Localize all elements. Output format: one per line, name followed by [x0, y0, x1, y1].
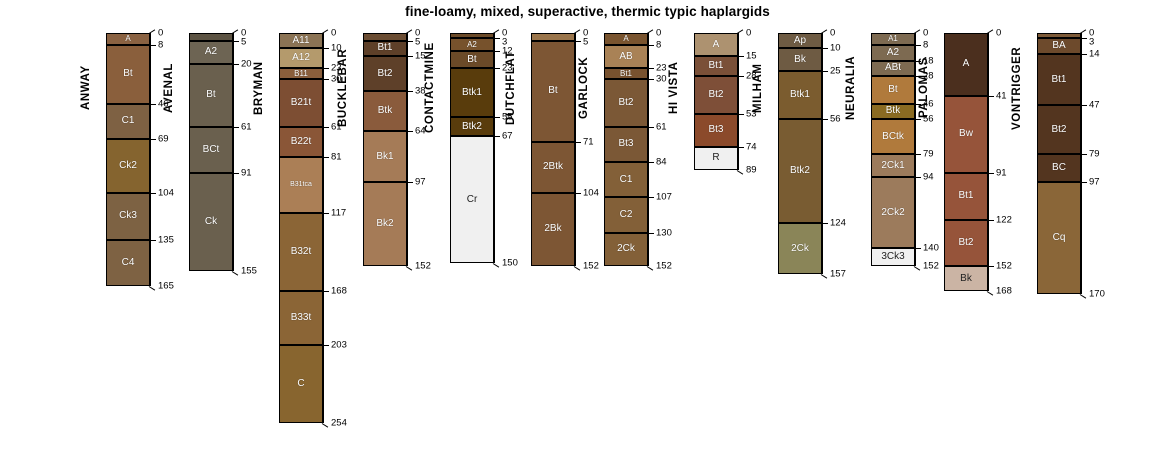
horizon-a[interactable]: A: [106, 33, 150, 45]
depth-tick-label: 107: [656, 192, 672, 203]
depth-tick: [575, 193, 581, 194]
depth-tick-label: 25: [830, 66, 841, 77]
horizon-label: A: [125, 35, 130, 43]
horizon-label: A11: [292, 36, 309, 46]
horizon-bt2[interactable]: Bt2: [944, 220, 988, 266]
horizon-label: Bt2: [708, 90, 723, 100]
depth-tick: [987, 29, 993, 34]
horizon-column: ABt1Bt2Bt3R: [694, 33, 738, 170]
depth-tick: [821, 274, 827, 279]
depth-tick: [323, 68, 329, 69]
horizon-bt1[interactable]: Bt1: [363, 41, 407, 56]
depth-tick: [232, 271, 238, 276]
depth-tick-label: 150: [502, 258, 518, 269]
depth-tick: [407, 182, 413, 183]
horizon-bk[interactable]: Bk: [944, 266, 988, 291]
horizon-bt2[interactable]: Bt2: [604, 79, 648, 127]
depth-tick: [648, 197, 654, 198]
depth-tick-label: 23: [656, 63, 667, 74]
profile-name-label: BUCKLEBAR: [337, 33, 349, 143]
horizon-ab[interactable]: AB: [604, 45, 648, 68]
horizon-column: AABBt1Bt2Bt3C1C22Ck: [604, 33, 648, 266]
horizon-bw[interactable]: Bw: [944, 96, 988, 173]
depth-tick: [406, 29, 412, 34]
horizon-label: A12: [292, 53, 310, 63]
depth-axis: [988, 33, 989, 291]
horizon-label: B31tca: [290, 181, 312, 188]
horizon-ba[interactable]: BA: [1037, 38, 1081, 55]
horizon-label: Bt1: [377, 43, 392, 53]
horizon-a1[interactable]: [189, 33, 233, 41]
depth-tick: [322, 29, 328, 34]
depth-tick: [1081, 54, 1087, 55]
depth-tick-label: 0: [656, 28, 661, 39]
depth-tick: [233, 41, 239, 42]
depth-tick: [1080, 29, 1086, 34]
horizon-bt2[interactable]: Bt2: [363, 56, 407, 91]
horizon-label: Bk1: [376, 152, 393, 162]
depth-tick: [149, 29, 155, 34]
depth-tick-label: 79: [1089, 149, 1100, 160]
horizon-column: Bt1Bt2BtkBk1Bk2: [363, 33, 407, 266]
depth-tick-label: 152: [415, 261, 431, 272]
depth-tick-label: 0: [746, 28, 751, 39]
horizon-3ck3[interactable]: 3Ck3: [871, 248, 915, 266]
horizon-bt2[interactable]: Bt2: [694, 76, 738, 114]
horizon-label: B11: [294, 70, 308, 78]
depth-tick: [150, 139, 156, 140]
depth-tick: [407, 131, 413, 132]
horizon-b31tca[interactable]: B31tca: [279, 157, 323, 212]
depth-tick-label: 168: [331, 285, 347, 296]
horizon-2bk[interactable]: 2Bk: [531, 193, 575, 267]
horizon-label: Btk1: [462, 88, 482, 98]
horizon-bc[interactable]: BC: [1037, 154, 1081, 182]
depth-tick: [988, 266, 994, 267]
profile-name-label: AVENAL: [163, 33, 175, 143]
horizon-a12[interactable]: A12: [279, 48, 323, 68]
depth-tick-label: 152: [656, 261, 672, 272]
depth-tick: [494, 51, 500, 52]
depth-tick: [407, 41, 413, 42]
depth-tick: [988, 173, 994, 174]
depth-tick-label: 203: [331, 339, 347, 350]
horizon-label: Btk: [378, 106, 392, 116]
depth-tick-label: 5: [415, 37, 420, 48]
horizon-2ck[interactable]: 2Ck: [604, 233, 648, 267]
depth-tick: [407, 91, 413, 92]
horizon-label: ABt: [885, 63, 901, 73]
horizon-bt1[interactable]: Bt1: [944, 173, 988, 221]
horizon-bt3[interactable]: Bt3: [694, 114, 738, 146]
depth-tick-label: 0: [830, 28, 835, 39]
depth-tick: [737, 29, 743, 34]
horizon-b21t[interactable]: B21t: [279, 79, 323, 127]
horizon-label: 2Bk: [544, 224, 561, 234]
horizon-column: ABtC1Ck2Ck3C4: [106, 33, 150, 286]
horizon-label: Cr: [467, 195, 478, 205]
horizon-label: Btk: [886, 106, 900, 116]
depth-tick-label: 135: [158, 235, 174, 246]
horizon-label: C1: [122, 116, 135, 126]
horizon-a[interactable]: A: [944, 33, 988, 96]
horizon-r[interactable]: R: [694, 147, 738, 170]
depth-tick: [738, 114, 744, 115]
horizon-column: Bt2Btk2Bk: [531, 33, 575, 266]
horizon-b11[interactable]: B11: [279, 68, 323, 79]
horizon-2ck2[interactable]: 2Ck2: [871, 177, 915, 248]
depth-axis: [323, 33, 324, 423]
horizon-bt1[interactable]: Bt1: [604, 68, 648, 79]
depth-tick-label: 152: [996, 261, 1012, 272]
horizon-label: C: [297, 379, 304, 389]
horizon-label: Bt1: [708, 61, 723, 71]
horizon-label: Bt: [123, 69, 132, 79]
depth-tick-label: 94: [923, 172, 934, 183]
horizon-column: BABt1Bt2BCCq: [1037, 33, 1081, 294]
depth-tick: [915, 154, 921, 155]
horizon-label: Ck: [205, 217, 217, 227]
horizon-label: 2Ck1: [881, 161, 904, 171]
horizon-bct[interactable]: BCt: [189, 127, 233, 173]
depth-tick-label: 104: [583, 187, 599, 198]
depth-tick-label: 130: [656, 227, 672, 238]
profile-name-label: NEURALIA: [845, 33, 857, 143]
horizon-label: B33t: [291, 313, 312, 323]
horizon-label: Cq: [1053, 233, 1066, 243]
depth-tick-label: 84: [656, 156, 667, 167]
horizon-ap[interactable]: Ap: [778, 33, 822, 48]
horizon-a[interactable]: [531, 33, 575, 41]
horizon-a[interactable]: A: [694, 33, 738, 56]
horizon-label: Ap: [794, 36, 806, 46]
horizon-label: Btk2: [790, 166, 810, 176]
horizon-abt[interactable]: ABt: [871, 61, 915, 76]
horizon-label: A2: [205, 47, 217, 57]
depth-tick: [323, 291, 329, 292]
depth-axis: [1081, 33, 1082, 294]
horizon-label: Bt: [548, 86, 557, 96]
depth-axis: [738, 33, 739, 170]
depth-tick-label: 30: [656, 74, 667, 85]
horizon-a[interactable]: A: [604, 33, 648, 45]
profile-name-label: BRYMAN: [253, 33, 265, 143]
horizon-label: A2: [887, 48, 899, 58]
horizon-label: B22t: [291, 137, 312, 147]
depth-tick: [821, 29, 827, 34]
horizon-c4[interactable]: C4: [106, 240, 150, 286]
depth-tick-label: 157: [830, 268, 846, 279]
depth-tick-label: 155: [241, 265, 257, 276]
depth-tick: [737, 170, 743, 175]
horizon-label: C4: [122, 258, 135, 268]
depth-tick-label: 61: [241, 121, 252, 132]
depth-axis: [915, 33, 916, 266]
horizon-ck3[interactable]: Ck3: [106, 193, 150, 241]
profile-name-label: MILHAM: [752, 33, 764, 143]
horizon-label: BCtk: [882, 132, 904, 142]
depth-tick: [1081, 154, 1087, 155]
depth-tick: [1081, 38, 1087, 39]
soil-profile-chart: ANWAYABtC1Ck2Ck3C4084669104135165AVENALA…: [0, 0, 1175, 450]
horizon-c2[interactable]: C2: [604, 197, 648, 232]
depth-tick: [233, 173, 239, 174]
depth-tick: [574, 266, 580, 271]
horizon-label: BC: [1052, 163, 1066, 173]
horizon-label: AB: [619, 52, 632, 62]
horizon-bt[interactable]: Bt: [189, 64, 233, 127]
horizon-label: Bt: [467, 55, 476, 65]
depth-tick: [648, 68, 654, 69]
horizon-ck2[interactable]: Ck2: [106, 139, 150, 193]
horizon-btk2[interactable]: Btk2: [778, 119, 822, 223]
horizon-label: 2Ck: [617, 244, 635, 254]
horizon-c[interactable]: C: [279, 345, 323, 423]
horizon-column: ApBkBtk1Btk22Ck: [778, 33, 822, 274]
horizon-c1[interactable]: C1: [604, 162, 648, 197]
depth-tick: [914, 266, 920, 271]
depth-tick: [494, 38, 500, 39]
horizon-cq[interactable]: Cq: [1037, 182, 1081, 294]
horizon-bk2[interactable]: Bk2: [363, 182, 407, 266]
horizon-label: C2: [620, 210, 633, 220]
depth-tick: [648, 79, 654, 80]
depth-tick-label: 0: [996, 28, 1001, 39]
horizon-bt[interactable]: Bt: [106, 45, 150, 103]
horizon-btk1[interactable]: Btk1: [778, 71, 822, 119]
horizon-bctk[interactable]: BCtk: [871, 119, 915, 154]
horizon-2btk[interactable]: 2Btk: [531, 142, 575, 193]
depth-tick: [738, 76, 744, 77]
depth-tick: [988, 96, 994, 97]
depth-tick: [494, 68, 500, 69]
horizon-column: A2BtBtk1Btk2Cr: [450, 33, 494, 263]
depth-tick-label: 91: [996, 167, 1007, 178]
depth-axis: [407, 33, 408, 266]
depth-axis: [150, 33, 151, 286]
depth-tick-label: 5: [241, 37, 246, 48]
depth-tick-label: 152: [923, 261, 939, 272]
depth-tick-label: 152: [583, 261, 599, 272]
depth-tick-label: 254: [331, 417, 347, 428]
horizon-label: Bw: [959, 129, 973, 139]
horizon-label: A1: [888, 35, 898, 43]
depth-tick: [323, 127, 329, 128]
horizon-2ck1[interactable]: 2Ck1: [871, 154, 915, 177]
depth-tick: [915, 177, 921, 178]
horizon-label: Bt2: [1051, 125, 1066, 135]
horizon-a1[interactable]: A1: [871, 33, 915, 45]
depth-tick: [988, 220, 994, 221]
depth-tick-label: 81: [331, 152, 342, 163]
depth-tick: [323, 157, 329, 158]
depth-tick: [322, 423, 328, 428]
horizon-btk[interactable]: Btk: [871, 104, 915, 119]
horizon-label: BA: [1052, 41, 1065, 51]
horizon-bk1[interactable]: Bk1: [363, 131, 407, 182]
horizon-label: Bk: [794, 55, 806, 65]
depth-tick: [493, 29, 499, 34]
horizon-c1[interactable]: C1: [106, 104, 150, 139]
depth-tick: [647, 266, 653, 271]
depth-tick: [149, 286, 155, 291]
depth-tick: [822, 223, 828, 224]
depth-tick-label: 41: [996, 90, 1007, 101]
horizon-cr[interactable]: Cr: [450, 136, 494, 263]
horizon-bt1[interactable]: Bt1: [1037, 54, 1081, 105]
horizon-label: A: [713, 40, 720, 50]
depth-tick-label: 91: [241, 167, 252, 178]
depth-tick-label: 8: [656, 40, 661, 51]
depth-tick: [647, 29, 653, 34]
horizon-b32t[interactable]: B32t: [279, 213, 323, 291]
horizon-label: A: [963, 59, 970, 69]
horizon-label: B21t: [291, 98, 312, 108]
depth-tick-label: 56: [830, 113, 841, 124]
horizon-label: Bt: [206, 90, 215, 100]
horizon-bt2[interactable]: Bt2: [1037, 105, 1081, 154]
profile-name-label: VONTRIGGER: [1011, 33, 1023, 143]
horizon-a2[interactable]: A2: [450, 38, 494, 52]
depth-tick: [406, 266, 412, 271]
horizon-bt3[interactable]: Bt3: [604, 127, 648, 162]
depth-tick-label: 168: [996, 285, 1012, 296]
depth-tick: [407, 56, 413, 57]
horizon-bt[interactable]: Bt: [871, 76, 915, 104]
horizon-label: Bt2: [618, 98, 633, 108]
horizon-b22t[interactable]: B22t: [279, 127, 323, 158]
depth-tick: [494, 136, 500, 137]
horizon-b33t[interactable]: B33t: [279, 291, 323, 345]
depth-tick-label: 117: [331, 207, 346, 218]
profile-name-label: CONTACTMINE: [424, 33, 436, 143]
horizon-bt[interactable]: Bt: [531, 41, 575, 142]
horizon-column: A11A12B11B21tB22tB31tcaB32tB33tC: [279, 33, 323, 423]
horizon-label: Bk2: [376, 219, 393, 229]
horizon-label: Btk1: [790, 90, 810, 100]
horizon-btk[interactable]: Btk: [363, 91, 407, 131]
horizon-label: Ck3: [119, 211, 137, 221]
horizon-label: 2Btk: [543, 162, 563, 172]
depth-tick: [493, 263, 499, 268]
depth-tick: [150, 193, 156, 194]
depth-tick: [822, 48, 828, 49]
depth-tick: [648, 162, 654, 163]
depth-tick-label: 104: [158, 187, 174, 198]
profile-name-label: DUTCHFLAT: [505, 33, 517, 143]
depth-tick: [648, 45, 654, 46]
depth-tick-label: 89: [746, 164, 757, 175]
horizon-btk1[interactable]: Btk1: [450, 68, 494, 117]
depth-tick-label: 140: [923, 242, 939, 253]
depth-tick: [738, 147, 744, 148]
horizon-label: A: [623, 35, 628, 43]
horizon-label: Ck2: [119, 161, 137, 171]
horizon-label: 2Ck2: [881, 208, 904, 218]
depth-tick: [1081, 182, 1087, 183]
horizon-column: ABwBt1Bt2Bk: [944, 33, 988, 291]
depth-tick: [1081, 105, 1087, 106]
profile-name-label: PALOMAS: [918, 33, 930, 143]
depth-tick: [1080, 294, 1086, 299]
depth-tick: [150, 45, 156, 46]
horizon-label: Bt1: [958, 191, 973, 201]
horizon-label: Bt: [888, 85, 897, 95]
depth-tick: [323, 48, 329, 49]
depth-tick-label: 61: [656, 121, 667, 132]
horizon-label: C1: [620, 175, 633, 185]
depth-tick-label: 0: [331, 28, 336, 39]
horizon-a2[interactable]: A2: [189, 41, 233, 64]
horizon-ck[interactable]: Ck: [189, 173, 233, 271]
horizon-label: 2Ck: [791, 244, 809, 254]
depth-tick: [323, 345, 329, 346]
depth-tick: [822, 119, 828, 120]
horizon-bk[interactable]: Bk: [778, 48, 822, 71]
depth-tick-label: 97: [415, 176, 426, 187]
horizon-label: Bt1: [620, 70, 632, 78]
horizon-a[interactable]: [363, 33, 407, 41]
horizon-label: R: [712, 153, 719, 163]
depth-tick-label: 20: [241, 58, 252, 69]
depth-tick: [233, 64, 239, 65]
horizon-label: Bt2: [958, 238, 973, 248]
profile-name-label: HI VISTA: [668, 33, 680, 143]
depth-tick-label: 124: [830, 218, 846, 229]
horizon-a2[interactable]: A2: [871, 45, 915, 60]
horizon-bt1[interactable]: Bt1: [694, 56, 738, 76]
depth-axis: [233, 33, 234, 271]
horizon-btk2[interactable]: Btk2: [450, 117, 494, 135]
depth-tick-label: 165: [158, 281, 174, 292]
horizon-column: A2BtBCtCk: [189, 33, 233, 271]
depth-tick-label: 3: [1089, 37, 1094, 48]
horizon-column: A1A2ABtBtBtkBCtk2Ck12Ck23Ck3: [871, 33, 915, 266]
horizon-label: B32t: [291, 247, 312, 257]
horizon-label: Bt3: [708, 125, 723, 135]
depth-tick: [323, 213, 329, 214]
depth-tick: [150, 240, 156, 241]
horizon-label: Bk: [960, 274, 972, 284]
profile-name-label: ANWAY: [80, 33, 92, 143]
depth-tick-label: 47: [1089, 100, 1100, 111]
depth-axis: [822, 33, 823, 274]
depth-tick: [822, 71, 828, 72]
depth-tick-label: 14: [1089, 49, 1100, 60]
horizon-label: Bt3: [618, 139, 633, 149]
depth-tick: [915, 248, 921, 249]
horizon-label: Btk2: [462, 122, 482, 132]
depth-tick-label: 79: [923, 149, 934, 160]
depth-tick: [150, 104, 156, 105]
depth-tick: [738, 56, 744, 57]
depth-tick: [233, 127, 239, 128]
horizon-label: BCt: [203, 145, 220, 155]
depth-tick: [232, 29, 238, 34]
depth-tick: [648, 127, 654, 128]
depth-tick: [494, 117, 500, 118]
depth-tick-label: 122: [996, 215, 1012, 226]
horizon-label: Bt2: [377, 69, 392, 79]
horizon-label: Bt1: [1051, 75, 1066, 85]
depth-tick-label: 10: [830, 43, 841, 54]
horizon-label: 3Ck3: [881, 252, 904, 262]
horizon-a11[interactable]: A11: [279, 33, 323, 48]
horizon-2ck[interactable]: 2Ck: [778, 223, 822, 274]
horizon-bt[interactable]: Bt: [450, 51, 494, 68]
depth-tick: [323, 79, 329, 80]
horizon-label: A2: [467, 41, 477, 49]
